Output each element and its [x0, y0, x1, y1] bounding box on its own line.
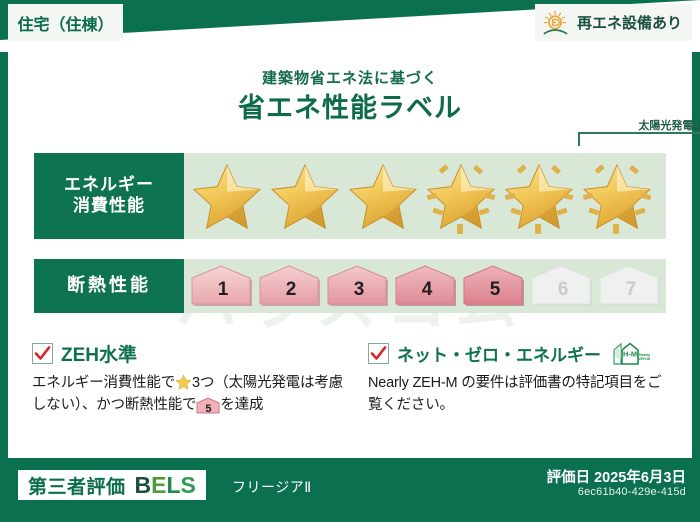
svg-text:ZEH-M: ZEH-M [639, 357, 650, 361]
nze-criteria-column: ネット・ゼロ・エネルギー H-M Nearly ZEH-M Nearly ZEH… [352, 340, 672, 440]
check-icon [370, 345, 387, 362]
building-type-label: 住宅（住棟） [17, 11, 113, 35]
solar-bracket [578, 132, 700, 146]
zeh-text-part1: エネルギー消費性能で [32, 375, 175, 391]
insulation-badge-2: 2 [258, 264, 324, 308]
zeh-text-part3: を達成 [220, 397, 263, 413]
energy-rating-panel: 太陽光発電(自家消費)分 [184, 153, 666, 239]
label-subtitle: 建築物省エネ法に基づく [8, 67, 692, 88]
nze-checkbox [368, 343, 389, 364]
insulation-badge-3: 3 [326, 264, 392, 308]
star-icon [503, 161, 575, 231]
zeh-heading: ZEH水準 [61, 340, 137, 367]
zeh-description: エネルギー消費性能で3つ（太陽光発電は考慮しない）、かつ断熱性能で5を達成 [32, 372, 352, 417]
star-icon [269, 161, 341, 231]
header-bar: 住宅（住棟） 再エネ設備あり [0, 0, 700, 52]
insulation-badge-value: 4 [422, 280, 433, 308]
evaluation-date: 評価日 2025年6月3日 [547, 466, 686, 487]
bels-letter-l: L [166, 472, 180, 498]
star-2 [266, 153, 344, 239]
nze-heading: ネット・ゼロ・エネルギー [397, 341, 601, 366]
energy-performance-label: 住宅（住棟） 再エネ設備あり ハウス [0, 0, 700, 522]
renewable-energy-badge: 再エネ設備あり [535, 4, 692, 41]
energy-performance-row: エネルギー 消費性能 太陽光発電(自家消費)分 [34, 153, 666, 239]
insulation-rating-panel: 1 2 [184, 259, 666, 313]
star-5 [500, 153, 578, 239]
star-3 [344, 153, 422, 239]
insulation-badge-value: 6 [558, 280, 569, 308]
zeh-m-logo-icon: H-M Nearly ZEH-M [611, 340, 651, 366]
star-icon [347, 161, 419, 231]
energy-performance-label-box: エネルギー 消費性能 [34, 153, 184, 239]
insulation-badge-value: 1 [218, 280, 229, 308]
label-card: ハウスコム 建築物省エネ法に基づく 省エネ性能ラベル エネルギー 消費性能 太陽… [8, 52, 692, 458]
star-6 [578, 153, 656, 239]
inline-house-badge: 5 [196, 397, 220, 414]
criteria-columns: ZEH水準 エネルギー消費性能で3つ（太陽光発電は考慮しない）、かつ断熱性能で5… [32, 340, 672, 440]
zeh-heading-row: ZEH水準 [32, 340, 352, 366]
nze-description: Nearly ZEH-M の要件は評価書の特記項目をご覧ください。 [368, 372, 672, 417]
zeh-criteria-column: ZEH水準 エネルギー消費性能で3つ（太陽光発電は考慮しない）、かつ断熱性能で5… [32, 340, 352, 440]
evaluation-id: 6ec61b40-429e-415d [578, 486, 686, 498]
insulation-badge-5: 5 [462, 264, 528, 308]
insulation-performance-label-box: 断熱性能 [34, 259, 184, 313]
bels-logo-box: 第三者評価 BELS [18, 470, 206, 500]
solar-annotation-text: 太陽光発電(自家消費)分 [572, 117, 700, 133]
insulation-badge-group: 1 2 [184, 259, 666, 313]
insulation-badge-1: 1 [190, 264, 256, 308]
building-type-chip: 住宅（住棟） [8, 4, 123, 41]
nze-heading-row: ネット・ゼロ・エネルギー H-M Nearly ZEH-M [368, 340, 672, 366]
third-party-label: 第三者評価 [28, 472, 126, 499]
star-rating-group [184, 153, 666, 239]
property-name: フリージアⅡ [232, 477, 312, 497]
inline-house-value: 5 [196, 397, 220, 418]
star-icon [191, 161, 263, 231]
insulation-badge-6: 6 [530, 264, 596, 308]
insulation-badge-value: 2 [286, 280, 297, 308]
energy-label-line1: エネルギー [64, 175, 154, 196]
insulation-label: 断熱性能 [67, 275, 151, 297]
svg-text:H-M: H-M [623, 350, 637, 359]
star-1 [188, 153, 266, 239]
bels-letter-s: S [181, 472, 196, 498]
energy-label-line2: 消費性能 [73, 196, 145, 217]
inline-star-icon [175, 374, 192, 390]
sun-icon [541, 10, 571, 36]
insulation-badge-value: 3 [354, 280, 365, 308]
insulation-badge-4: 4 [394, 264, 460, 308]
insulation-badge-7: 7 [598, 264, 664, 308]
bels-letter-e: E [151, 472, 166, 498]
insulation-performance-row: 断熱性能 1 [34, 259, 666, 313]
star-icon [581, 161, 653, 231]
check-icon [34, 345, 51, 362]
bels-letter-b: B [135, 472, 152, 498]
footer-bar: 第三者評価 BELS フリージアⅡ 評価日 2025年6月3日 6ec61b40… [0, 458, 700, 522]
renewable-badge-label: 再エネ設備あり [577, 12, 682, 33]
star-4 [422, 153, 500, 239]
star-icon [425, 161, 497, 231]
insulation-badge-value: 5 [490, 280, 501, 308]
zeh-checkbox [32, 343, 53, 364]
insulation-badge-value: 7 [626, 280, 637, 308]
bels-wordmark: BELS [135, 472, 196, 499]
